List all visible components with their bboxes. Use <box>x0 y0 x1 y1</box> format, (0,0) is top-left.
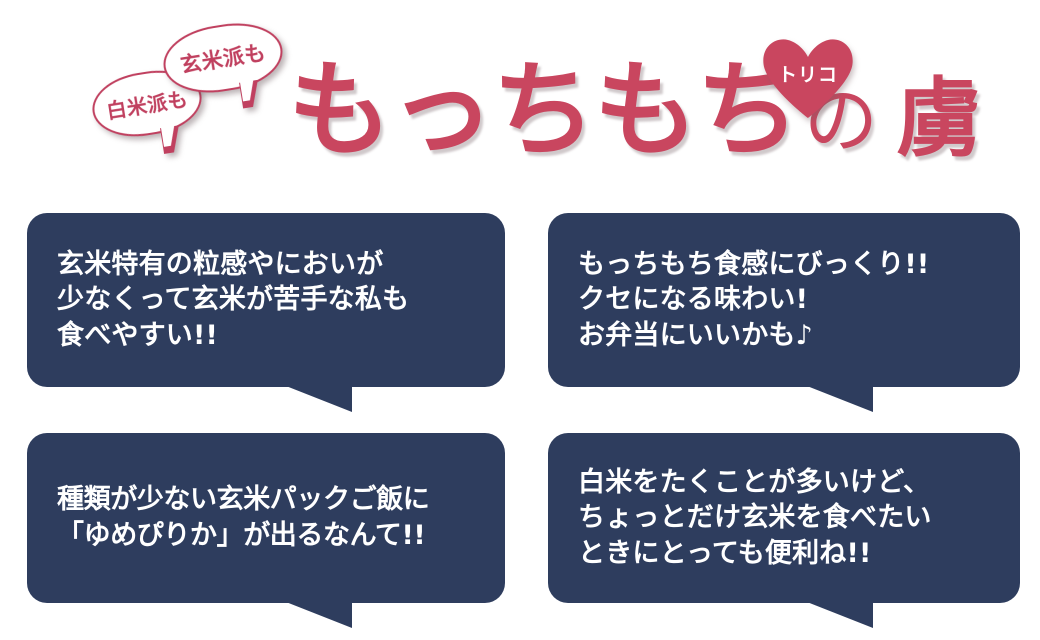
heart-icon: トリコ <box>762 38 854 118</box>
testimonial-line: 「ゆめぴりか」が出るなんて!! <box>57 518 505 554</box>
testimonial-body: 白米をたくことが多いけど、 ちょっとだけ玄米を食べたい ときにとっても便利ね!! <box>548 433 1020 603</box>
testimonial-line: もっちもち食感にびっくり!! <box>578 247 1020 283</box>
mini-bubble-label: 玄米派も <box>178 36 268 79</box>
testimonial-line: 白米をたくことが多いけど、 <box>578 465 1020 501</box>
page-title: もっちもち の 虜 <box>288 58 982 162</box>
testimonial-body: 玄米特有の粒感やにおいが 少なくって玄米が苦手な私も 食べやすい!! <box>27 213 505 387</box>
testimonial-line: ときにとっても便利ね!! <box>578 536 1020 572</box>
title-kanji-wrapper: 虜 <box>896 76 982 162</box>
testimonial-line: お弁当にいいかも♪ <box>578 318 1020 354</box>
header-logo-area: 白米派も 玄米派も もっちもち の 虜 トリコ <box>0 0 1040 205</box>
testimonial-bubble-1: 玄米特有の粒感やにおいが 少なくって玄米が苦手な私も 食べやすい!! <box>27 213 505 387</box>
title-main-text: もっちもち <box>288 58 798 162</box>
testimonial-line: 種類が少ない玄米パックご飯に <box>57 482 505 518</box>
testimonial-line: ちょっとだけ玄米を食べたい <box>578 500 1020 536</box>
title-furigana-text: トリコ <box>762 60 854 87</box>
testimonial-bubble-2: もっちもち食感にびっくり!! クセになる味わい! お弁当にいいかも♪ <box>548 213 1020 387</box>
testimonial-body: もっちもち食感にびっくり!! クセになる味わい! お弁当にいいかも♪ <box>548 213 1020 387</box>
promo-banner: 白米派も 玄米派も もっちもち の 虜 トリコ 玄米特有の <box>0 0 1040 640</box>
testimonial-bubble-3: 種類が少ない玄米パックご飯に 「ゆめぴりか」が出るなんて!! <box>27 433 505 603</box>
testimonial-bubble-4: 白米をたくことが多いけど、 ちょっとだけ玄米を食べたい ときにとっても便利ね!! <box>548 433 1020 603</box>
testimonial-body: 種類が少ない玄米パックご飯に 「ゆめぴりか」が出るなんて!! <box>27 433 505 603</box>
speech-tail-icon <box>286 602 352 628</box>
testimonial-line: クセになる味わい! <box>578 282 1020 318</box>
speech-tail-icon <box>807 386 873 412</box>
speech-tail-icon <box>807 602 873 628</box>
title-kanji-text: 虜 <box>896 69 982 169</box>
mini-bubble-label: 白米派も <box>104 83 190 124</box>
testimonial-line: 少なくって玄米が苦手な私も <box>57 282 505 318</box>
mini-bubble-tail-fill-icon <box>240 78 257 101</box>
testimonial-line: 玄米特有の粒感やにおいが <box>57 247 505 283</box>
testimonial-line: 食べやすい!! <box>57 318 505 354</box>
speech-tail-icon <box>286 386 352 412</box>
